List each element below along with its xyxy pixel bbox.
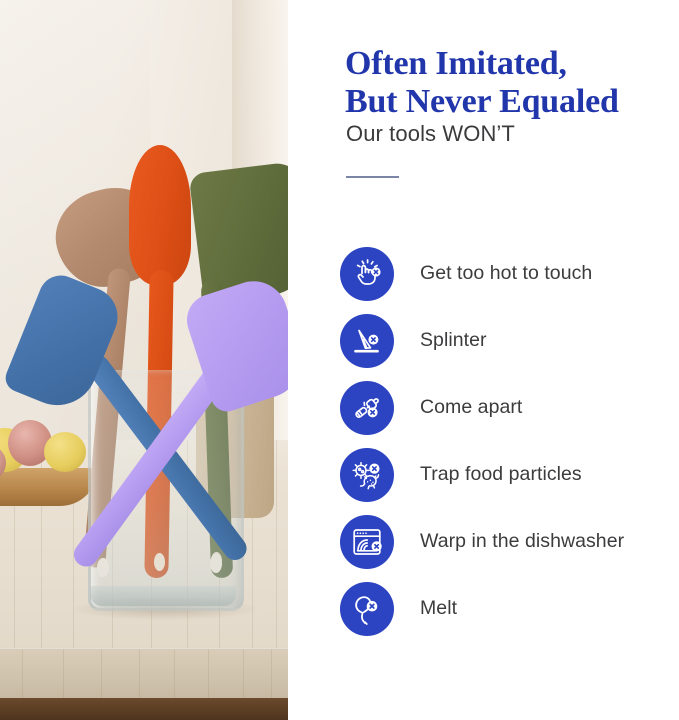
come-apart-icon: [340, 381, 394, 435]
list-item: Come apart: [340, 374, 675, 441]
list-item: Warp in the dishwasher: [340, 508, 675, 575]
counter-front-grain: [0, 649, 288, 701]
utensil-spoon-head: [129, 145, 191, 285]
glass-jar-base: [90, 586, 236, 606]
list-item-label: Splinter: [420, 329, 487, 352]
page-title: Often Imitated, But Never Equaled: [345, 45, 679, 121]
list-item-label: Get too hot to touch: [420, 262, 592, 285]
germs-icon: [340, 448, 394, 502]
melting-spatula-icon: [340, 582, 394, 636]
splinter-icon: [340, 314, 394, 368]
content-panel: Often Imitated, But Never Equaled Our to…: [288, 0, 679, 720]
list-item-label: Melt: [420, 597, 457, 620]
subheading: Our tools WON’T: [346, 121, 515, 147]
list-item-label: Warp in the dishwasher: [420, 530, 624, 553]
list-item: Trap food particles: [340, 441, 675, 508]
utensil-turner-head: [188, 161, 288, 304]
divider-rule: [346, 176, 399, 178]
product-feature-graphic: Often Imitated, But Never Equaled Our to…: [0, 0, 679, 720]
hot-to-touch-icon: [340, 247, 394, 301]
product-photo: [0, 0, 288, 720]
dishwasher-icon: [340, 515, 394, 569]
utensil-purple-hanging-hole: [97, 558, 109, 577]
list-item-label: Trap food particles: [420, 463, 582, 486]
list-item-label: Come apart: [420, 396, 522, 419]
counter-front-edge: [0, 648, 288, 701]
utensil-spoon-hanging-hole: [154, 553, 165, 571]
list-item: Get too hot to touch: [340, 240, 675, 307]
fruit-lemon: [44, 432, 86, 472]
list-item: Melt: [340, 575, 675, 642]
utensil-blue-hanging-hole: [210, 554, 222, 573]
floor-strip: [0, 698, 288, 720]
benefit-list: Get too hot to touch Splinter: [340, 240, 675, 642]
list-item: Splinter: [340, 307, 675, 374]
